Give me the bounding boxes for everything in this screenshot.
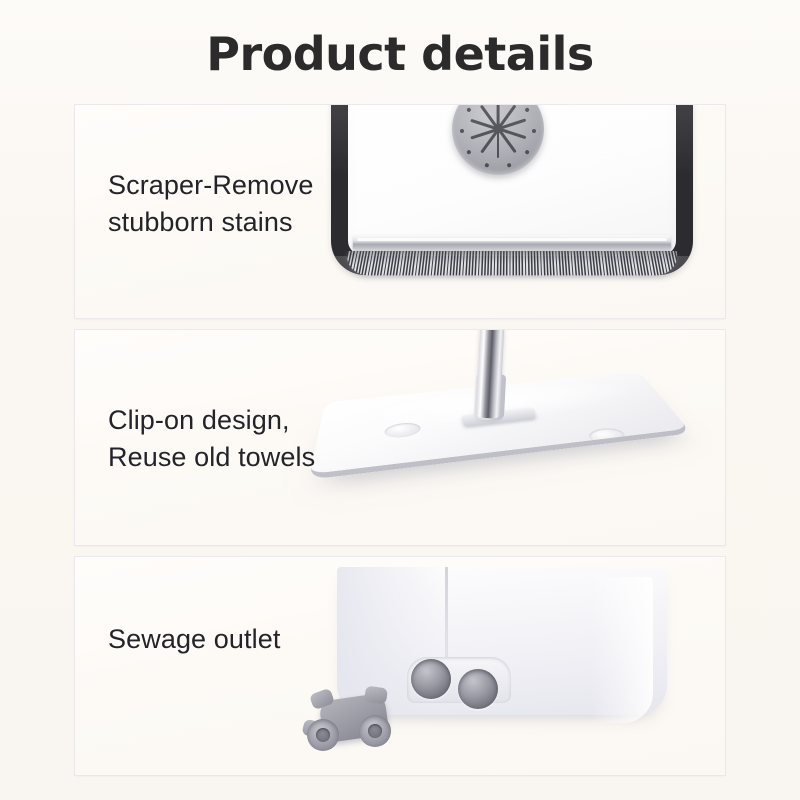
pad-clip-nub: [586, 427, 629, 445]
feature-panel-clip-on: Clip-on design, Reuse old towels: [75, 330, 725, 545]
mop-plate-surface: [347, 105, 677, 270]
mop-swivel-joint: [462, 408, 536, 427]
bucket-outlet-illustration: [295, 557, 725, 775]
mop-plate: [308, 371, 691, 479]
drain-plug-part: [301, 687, 409, 755]
mop-pole-collar: [474, 373, 506, 421]
plug-nozzle: [359, 715, 391, 747]
feature-panel-sewage-outlet: Sewage outlet: [75, 557, 725, 775]
page-title: Product details: [0, 24, 800, 84]
feature-caption-sewage-outlet: Sewage outlet: [108, 621, 280, 658]
rubber-scraper-frame: [331, 105, 693, 275]
scraper-comb-bristles: [342, 251, 681, 275]
feature-panel-scraper: Scraper-Remove stubborn stains: [75, 105, 725, 318]
plug-nozzle: [307, 719, 339, 751]
scraper-mop-illustration: [325, 105, 725, 318]
feature-caption-clip-on: Clip-on design, Reuse old towels: [108, 402, 315, 476]
vent-disc-icon: [452, 105, 544, 175]
metal-scraper-bar: [353, 235, 672, 250]
drain-outlet-hole: [411, 659, 451, 699]
drain-recess: [407, 657, 511, 703]
product-details-page: Product details Scraper-Remove stubborn …: [0, 0, 800, 800]
chrome-pole: [476, 330, 505, 419]
scraper-comb-shadow: [342, 251, 681, 275]
bucket-seam-line: [445, 567, 448, 703]
pad-clip-nub: [384, 421, 421, 439]
bucket-base: [337, 567, 667, 715]
mop-plate-edge: [308, 371, 691, 479]
flat-mop-illustration: [305, 330, 725, 545]
drain-outlet-hole: [458, 669, 498, 709]
feature-caption-scraper: Scraper-Remove stubborn stains: [108, 167, 313, 241]
